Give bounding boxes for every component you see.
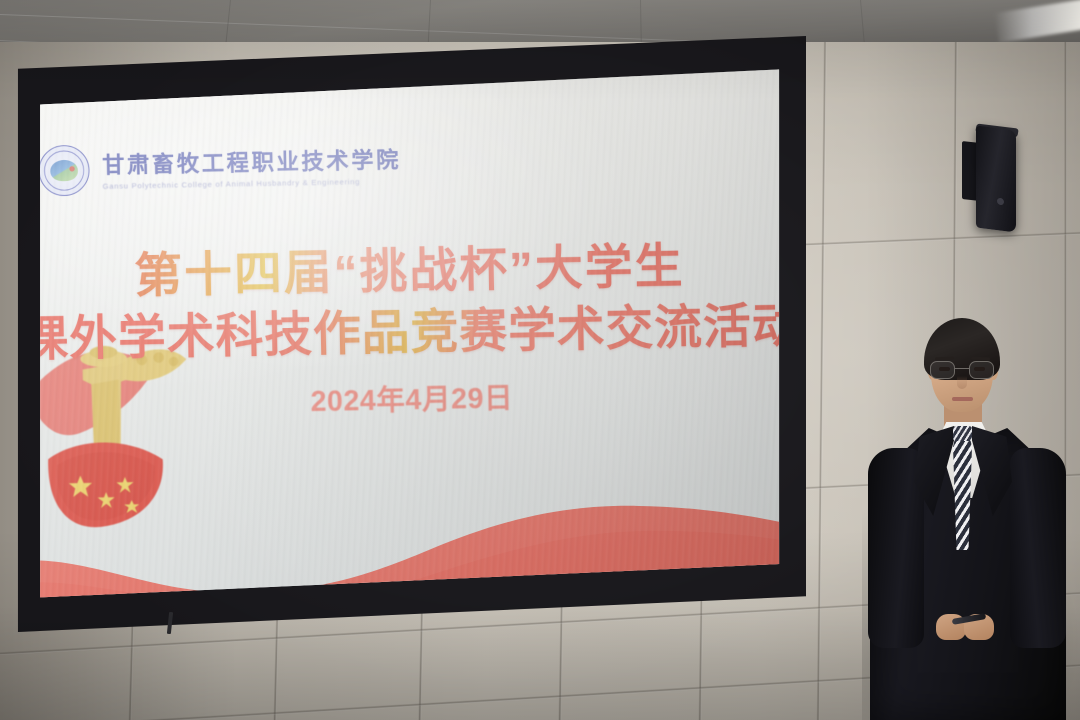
glasses-icon bbox=[928, 361, 996, 379]
slide-title-block: 第十四届“挑战杯”大学生 课外学术科技作品竞赛学术交流活动 bbox=[14, 233, 806, 370]
institution-header: 甘肃畜牧工程职业技术学院 Gansu Polytechnic College o… bbox=[38, 139, 401, 197]
mouth bbox=[952, 397, 973, 401]
presentation-slide[interactable]: Document 甘肃畜牧工程职业技术学院 Gansu Polytechnic … bbox=[14, 59, 806, 632]
presenter-in-black-suit bbox=[852, 318, 1080, 720]
wall-speaker bbox=[976, 126, 1016, 233]
tie-knot bbox=[953, 426, 972, 441]
projection-screen-surface[interactable]: Document 甘肃畜牧工程职业技术学院 Gansu Polytechnic … bbox=[14, 36, 806, 632]
eye-right bbox=[974, 367, 985, 371]
college-seal-icon bbox=[38, 145, 90, 197]
speaker-driver-icon bbox=[997, 198, 1004, 206]
lecture-hall-scene: Document 甘肃畜牧工程职业技术学院 Gansu Polytechnic … bbox=[0, 0, 1080, 720]
right-arm bbox=[1010, 448, 1066, 648]
institution-name-cn: 甘肃畜牧工程职业技术学院 bbox=[102, 143, 401, 180]
eye-left bbox=[939, 367, 950, 371]
